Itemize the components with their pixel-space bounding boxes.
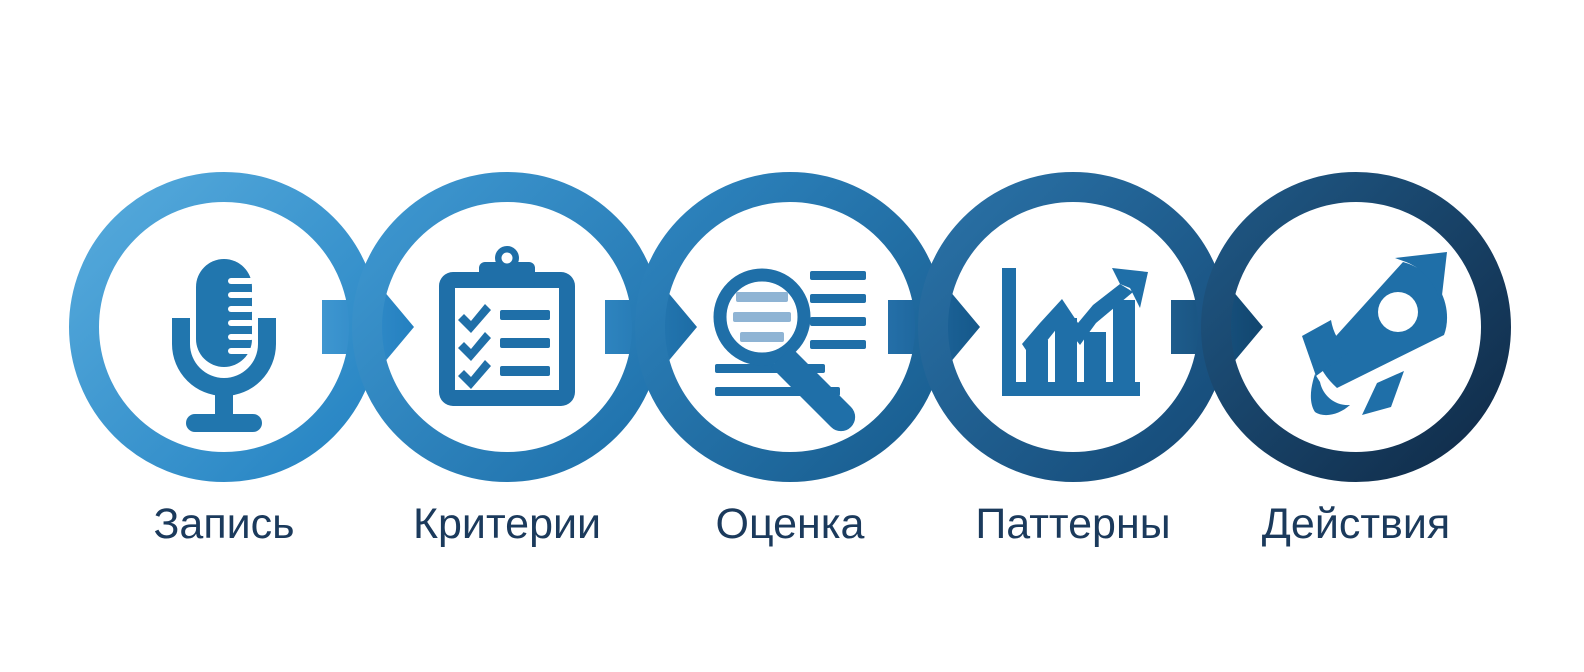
magnifier-document-icon [715,271,866,431]
step-label-2: Критерии [347,496,667,552]
step-label-1: Запись [64,496,384,552]
process-flow-graphic [0,0,1584,672]
step-label-4: Паттерны [913,496,1233,552]
rocket-icon [1302,252,1447,415]
microphone-icon [172,259,276,432]
step-label-3: Оценка [630,496,950,552]
diagram-canvas: Запись Критерии Оценка Паттерны Действия [0,0,1584,672]
step-label-5: Действия [1196,496,1516,552]
growth-bar-chart-icon [1002,268,1148,396]
clipboard-checklist-icon [439,246,575,406]
